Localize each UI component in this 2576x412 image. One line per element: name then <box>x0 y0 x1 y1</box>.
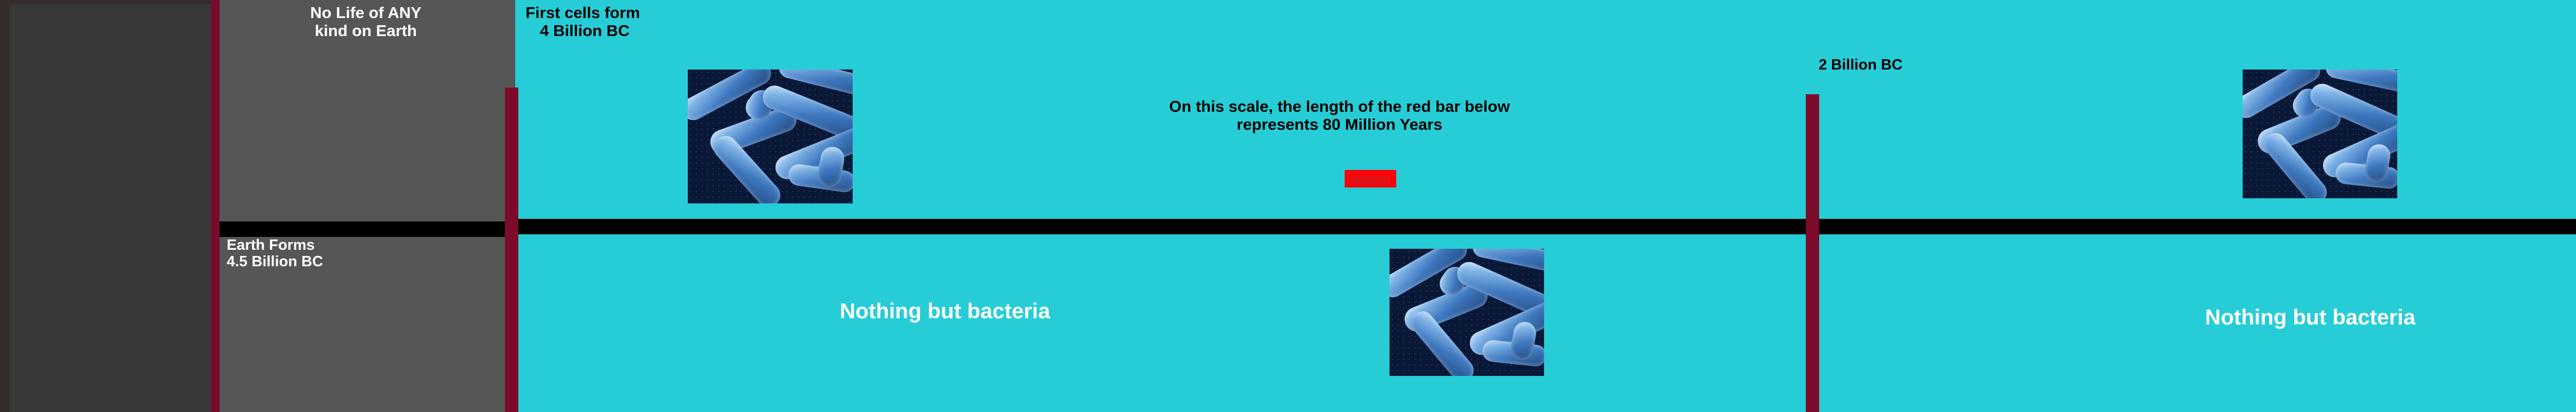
nothing-but-bacteria-label-1: Nothing but bacteria <box>840 299 1050 323</box>
timeline-axis-bar-main <box>515 219 2576 234</box>
bacteria-micrograph-1 <box>688 70 853 203</box>
earth-forms-label: Earth Forms4.5 Billion BC <box>227 237 323 270</box>
first-cells-date: 4 Billion BC <box>526 22 640 40</box>
first-cells-marker: First cells form4 Billion BC <box>526 4 640 40</box>
first-cells-label: First cells form <box>526 4 640 22</box>
left-edge-strip <box>0 4 216 412</box>
era-divider-earth-forms <box>211 0 219 412</box>
era-divider-first-cells <box>505 88 518 412</box>
timeline-axis-bar-left <box>216 221 515 237</box>
no-life-headline: No Life of ANY kind on Earth <box>216 4 515 40</box>
bacteria-micrograph-2 <box>1389 249 1544 376</box>
era-divider-two-billion <box>1806 94 1819 412</box>
scale-reference-red-bar-inner <box>1351 176 1390 184</box>
prelife-grey-panel <box>216 0 515 412</box>
life-cyan-panel <box>515 0 2576 412</box>
left-border-strip <box>0 0 9 412</box>
bacteria-micrograph-3 <box>2243 70 2397 198</box>
nothing-but-bacteria-label-2: Nothing but bacteria <box>2205 305 2415 329</box>
scale-note-line1: On this scale, the length of the red bar… <box>1169 97 1510 115</box>
earth-forms-date: 4.5 Billion BC <box>227 253 323 270</box>
scale-note-line2: represents 80 Million Years <box>1236 115 1442 133</box>
timeline-infographic: No Life of ANY kind on Earth Earth Forms… <box>0 0 2576 412</box>
scale-explanation: On this scale, the length of the red bar… <box>1072 98 1607 133</box>
two-billion-bc-marker: 2 Billion BC <box>1819 57 1903 73</box>
earth-forms-title: Earth Forms <box>227 237 315 253</box>
